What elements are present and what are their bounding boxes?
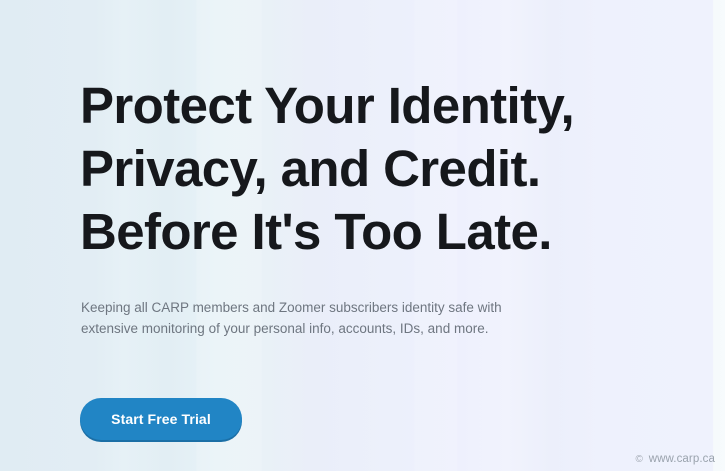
page-title: Protect Your Identity, Privacy, and Cred… bbox=[80, 74, 680, 263]
hero-subcopy: Keeping all CARP members and Zoomer subs… bbox=[81, 298, 533, 339]
headline-line-2: Privacy, and Credit. bbox=[80, 137, 680, 200]
site-watermark: © www.carp.ca bbox=[634, 453, 715, 465]
headline-line-1: Protect Your Identity, bbox=[80, 74, 680, 137]
hero-banner: Protect Your Identity, Privacy, and Cred… bbox=[0, 0, 725, 471]
watermark-url: www.carp.ca bbox=[649, 453, 715, 465]
globe-icon: © bbox=[634, 454, 645, 465]
cta-container: Start Free Trial bbox=[80, 398, 242, 440]
headline-line-3: Before It's Too Late. bbox=[80, 200, 680, 263]
start-free-trial-button[interactable]: Start Free Trial bbox=[80, 398, 242, 440]
